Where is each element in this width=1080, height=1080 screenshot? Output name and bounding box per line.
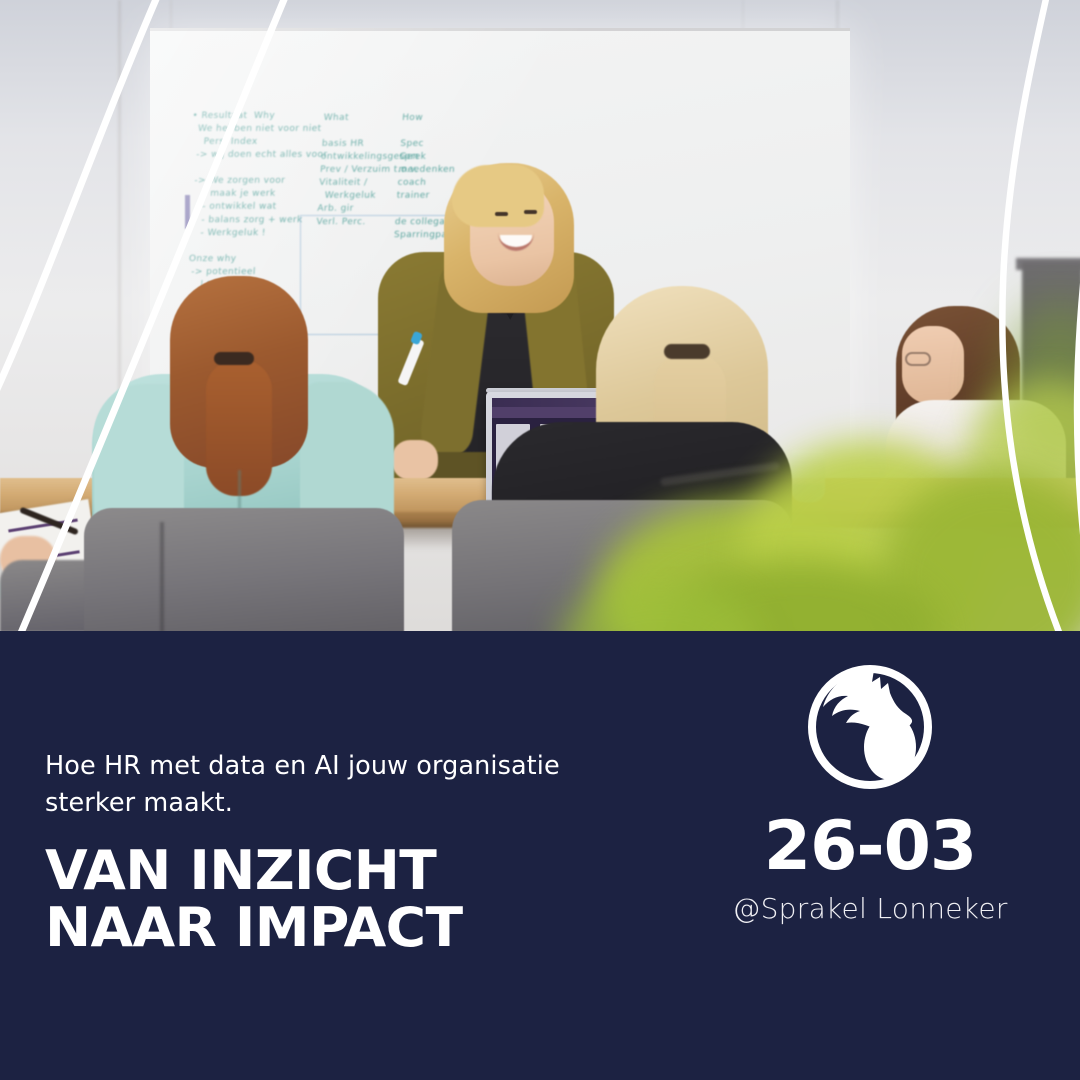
presenter-fringe xyxy=(452,165,544,227)
hair-tie xyxy=(214,352,254,365)
eyeglasses xyxy=(905,352,931,366)
social-media-card: • Resultaat Why We hebben niet voor niet… xyxy=(0,0,1080,1080)
brand-block: 26-03 @Sprakel Lonneker xyxy=(700,651,1040,927)
event-date: 26-03 xyxy=(764,811,976,883)
participant-left-shoulder xyxy=(300,382,394,528)
caption-text-block: Hoe HR met data en AI jouw organisatie s… xyxy=(45,748,645,956)
caption-band: Hoe HR met data en AI jouw organisatie s… xyxy=(0,631,1080,1080)
venue-handle: @Sprakel Lonneker xyxy=(732,891,1007,927)
event-headline: VAN INZICHT NAAR IMPACT xyxy=(45,842,657,956)
event-photo: • Resultaat Why We hebben niet voor niet… xyxy=(0,0,1080,631)
hair-tie xyxy=(664,344,710,359)
presenter-eye xyxy=(524,210,537,214)
event-subtitle: Hoe HR met data en AI jouw organisatie s… xyxy=(45,748,645,822)
office-chair xyxy=(84,508,404,631)
rooster-body-shape xyxy=(864,714,916,780)
presenter-eye xyxy=(495,212,508,216)
presenter-hand xyxy=(392,440,438,480)
sprakel-rooster-logo-icon xyxy=(802,659,938,795)
chair-seam xyxy=(160,522,164,631)
